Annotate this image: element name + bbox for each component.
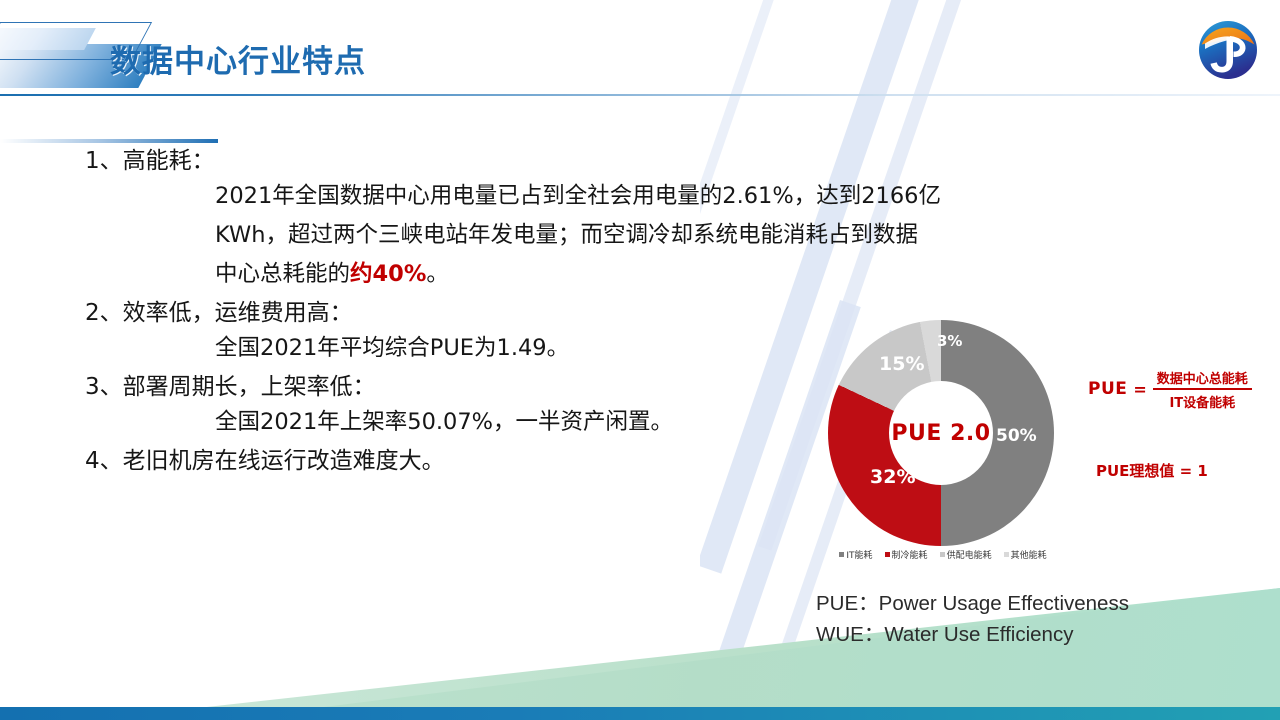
bullet-2-heading: 2、效率低，运维费用高： [0,302,760,325]
legend-swatch-icon [885,552,890,557]
bullet-1-line-3-pre: 中心总耗能的 [215,261,350,287]
pue-ideal-value: PUE理想值 = 1 [1096,460,1208,481]
legend-swatch-icon [839,552,844,557]
bullet-item-4: 4、老旧机房在线运行改造难度大。 [0,450,760,473]
footnote-wue: WUE：Water Use Efficiency [816,619,1129,650]
bullet-item-2: 2、效率低，运维费用高： 全国2021年平均综合PUE为1.49。 [0,302,760,368]
donut-center-label: PUE 2.0 [891,421,990,446]
acronym-footnote: PUE：Power Usage Effectiveness WUE：Water … [816,588,1129,650]
legend-label: 供配电能耗 [947,548,992,561]
legend-label: 制冷能耗 [892,548,928,561]
formula-fraction: 数据中心总能耗 IT设备能耗 [1153,368,1252,411]
legend-swatch-icon [940,552,945,557]
bullet-1-line-3: 中心总耗能的约40%。 [215,255,760,294]
footnote-pue: PUE：Power Usage Effectiveness [816,588,1129,619]
legend-label: 其他能耗 [1011,548,1047,561]
bullet-1-line-1: 2021年全国数据中心用电量已占到全社会用电量的2.61%，达到2166亿 [215,177,760,216]
bottom-accent-bar [0,707,1280,720]
slide-header: 数据中心行业特点 [0,0,1280,96]
chart-legend: IT能耗制冷能耗供配电能耗其他能耗 [810,548,1076,561]
slice-label-other: 3% [937,332,962,350]
bullet-1-heading: 1、高能耗： [0,150,760,173]
bullet-item-3: 3、部署周期长，上架率低： 全国2021年上架率50.07%，一半资产闲置。 [0,376,760,442]
bullet-item-1: 1、高能耗： 2021年全国数据中心用电量已占到全社会用电量的2.61%，达到2… [0,150,760,294]
bullet-4-heading: 4、老旧机房在线运行改造难度大。 [0,450,760,473]
formula-numerator: 数据中心总能耗 [1153,368,1252,388]
bullet-1-line-2: KWh，超过两个三峡电站年发电量；而空调冷却系统电能消耗占到数据 [215,216,760,255]
bullet-3-body: 全国2021年上架率50.07%，一半资产闲置。 [0,403,760,442]
formula-equals: = [1133,380,1146,399]
highlight-40-percent: 约40% [350,261,426,287]
bullet-3-heading: 3、部署周期长，上架率低： [0,376,760,399]
slice-label-power-distribution: 15% [879,353,924,375]
bullet-1-body: 2021年全国数据中心用电量已占到全社会用电量的2.61%，达到2166亿 KW… [0,177,760,294]
bullet-2-body: 全国2021年平均综合PUE为1.49。 [0,329,760,368]
legend-item: 供配电能耗 [940,548,992,561]
pue-donut-chart: PUE 2.0 50% 32% 15% 3% IT能耗制冷能耗供配电能耗其他能耗 [806,320,1076,570]
legend-item: 制冷能耗 [885,548,928,561]
pue-formula: PUE = 数据中心总能耗 IT设备能耗 [1088,368,1252,411]
sub-divider [0,139,218,143]
bullet-1-line-3-post: 。 [426,261,449,287]
slice-label-it: 50% [996,426,1037,446]
legend-item: 其他能耗 [1004,548,1047,561]
slice-label-cooling: 32% [870,466,915,488]
slide-body: 1、高能耗： 2021年全国数据中心用电量已占到全社会用电量的2.61%，达到2… [0,150,760,477]
page-title: 数据中心行业特点 [110,36,366,81]
bullet-3-line-1: 全国2021年上架率50.07%，一半资产闲置。 [215,403,760,442]
legend-swatch-icon [1004,552,1009,557]
formula-pue-label: PUE [1088,379,1127,399]
presentation-slide: 数据中心行业特点 [0,0,1280,720]
formula-denominator: IT设备能耗 [1165,390,1239,411]
bullet-2-line-1: 全国2021年平均综合PUE为1.49。 [215,329,760,368]
header-divider [0,94,1280,96]
company-logo-icon [1196,18,1260,82]
legend-item: IT能耗 [839,548,872,561]
legend-label: IT能耗 [846,548,872,561]
